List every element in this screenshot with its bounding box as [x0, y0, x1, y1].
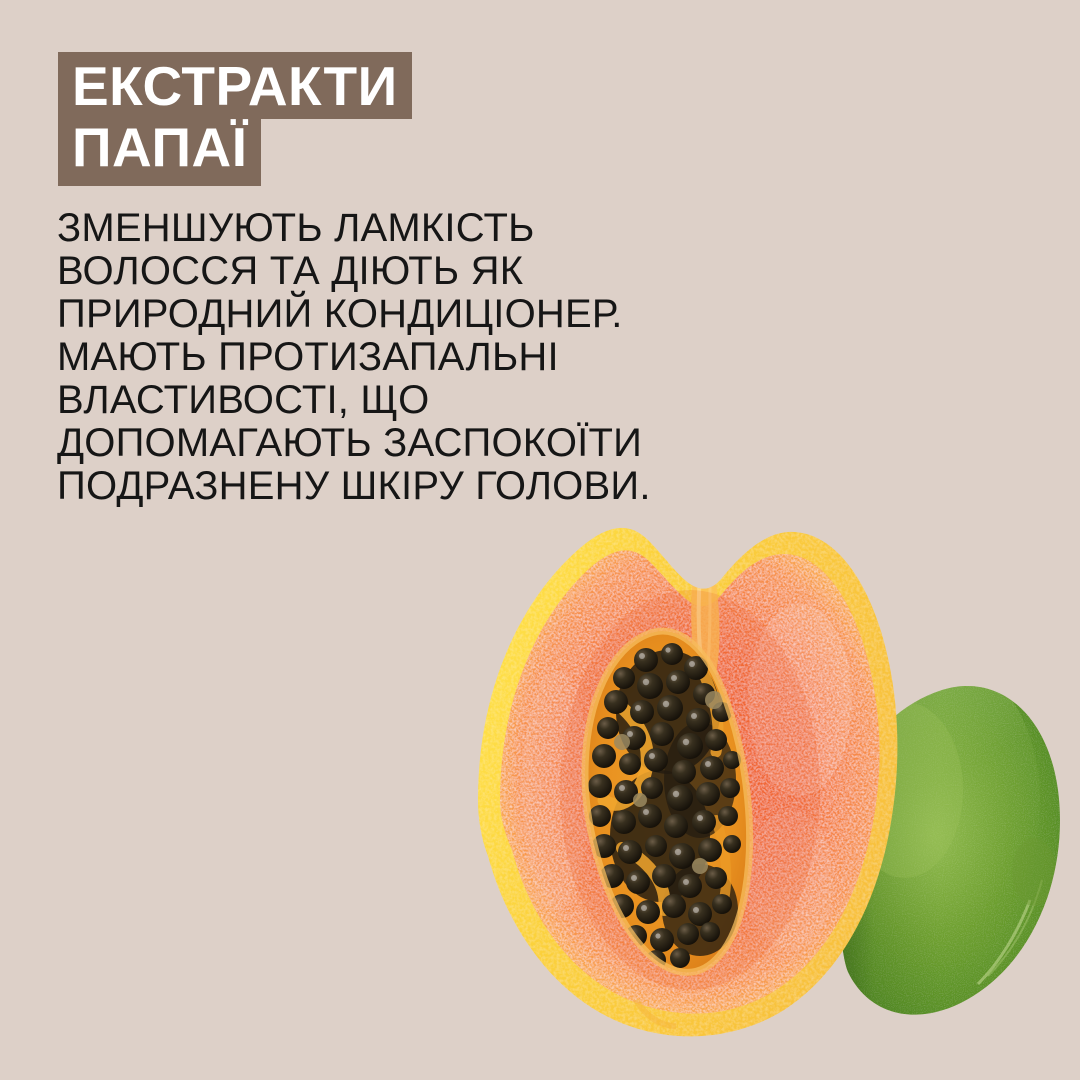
headline-block: ЕКСТРАКТИ ПАПАЇ	[58, 52, 412, 186]
poster-canvas: ЕКСТРАКТИ ПАПАЇ ЗМЕНШУЮТЬ ЛАМКІСТЬ ВОЛОС…	[0, 0, 1080, 1080]
body-line-5: ВЛАСТИВОСТІ, ЩО	[57, 379, 757, 422]
headline-line-1: ЕКСТРАКТИ	[58, 52, 412, 119]
headline-line-2: ПАПАЇ	[58, 119, 261, 186]
body-copy-block: ЗМЕНШУЮТЬ ЛАМКІСТЬ ВОЛОССЯ ТА ДІЮТЬ ЯК П…	[57, 207, 757, 508]
body-line-3: ПРИРОДНИЙ КОНДИЦІОНЕР.	[57, 293, 757, 336]
body-line-1: ЗМЕНШУЮТЬ ЛАМКІСТЬ	[57, 207, 757, 250]
body-line-6: ДОПОМАГАЮТЬ ЗАСПОКОЇТИ	[57, 422, 757, 465]
papaya-half	[478, 528, 897, 1037]
body-line-2: ВОЛОССЯ ТА ДІЮТЬ ЯК	[57, 250, 757, 293]
body-line-4: МАЮТЬ ПРОТИЗАПАЛЬНІ	[57, 336, 757, 379]
body-line-7: ПОДРАЗНЕНУ ШКІРУ ГОЛОВИ.	[57, 465, 757, 508]
